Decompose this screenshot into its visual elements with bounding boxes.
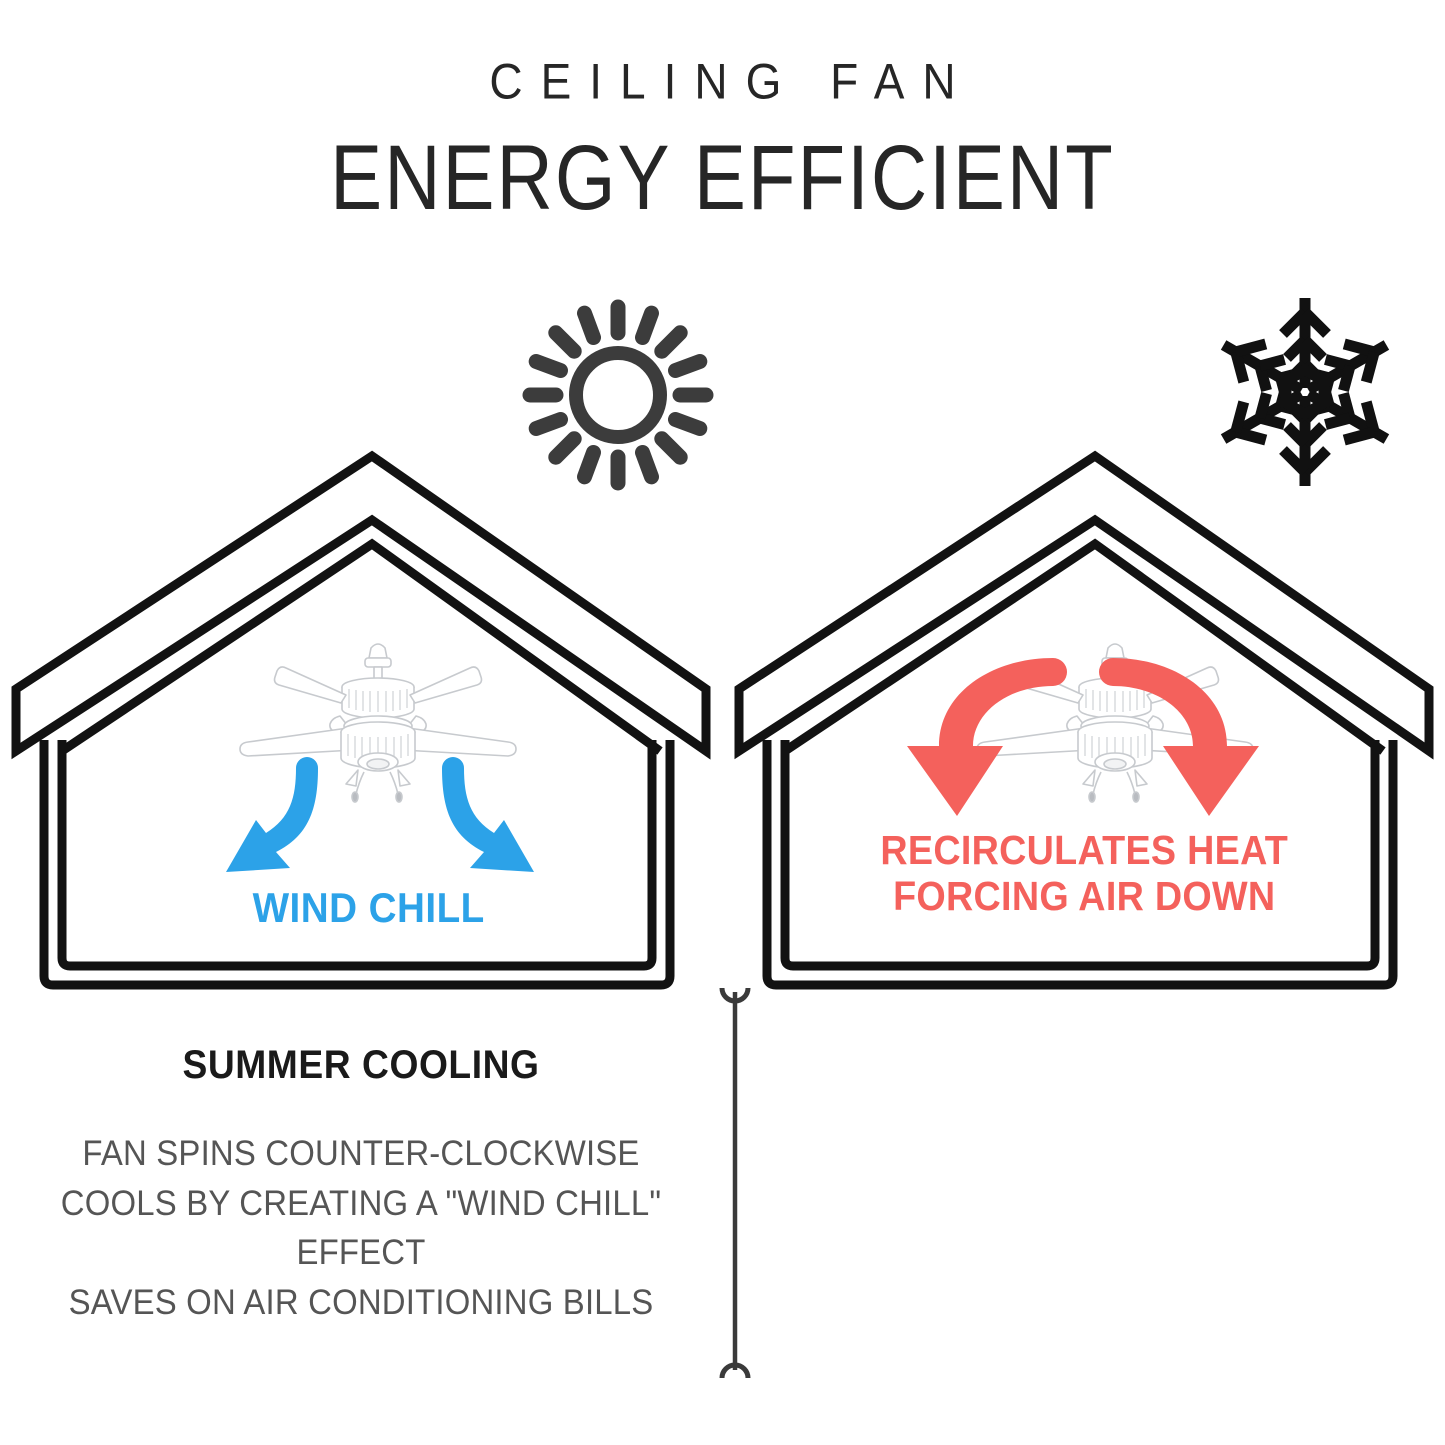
caption-body-summer: FAN SPINS COUNTER-CLOCKWISE COOLS BY CRE… — [22, 1129, 701, 1328]
divider-cup-bottom — [722, 1365, 748, 1378]
arrow-recirculate-right — [1099, 658, 1259, 816]
arrow-down-left — [226, 757, 318, 872]
caption-line: FAN SPINS COUNTER-CLOCKWISE — [22, 1129, 701, 1179]
inside-label-line: WIND CHILL — [37, 884, 701, 931]
vertical-divider — [700, 978, 770, 1388]
inside-label-summer: WIND CHILL — [29, 884, 701, 931]
panel-summer: WIND CHILL SUMMER COOLING FAN SPINS COUN… — [0, 0, 722, 1445]
caption-line: SAVES ON AIR CONDITIONING BILLS — [22, 1278, 701, 1328]
caption-summer: SUMMER COOLING FAN SPINS COUNTER-CLOCKWI… — [0, 1045, 722, 1328]
airflow-arrows-summer — [140, 740, 620, 1000]
caption-heading-summer: SUMMER COOLING — [25, 1045, 696, 1085]
infographic-canvas: CEILING FAN ENERGY EFFICIENT — [0, 0, 1445, 1445]
inside-label-line: RECIRCULATES HEAT — [752, 828, 1416, 874]
caption-line: COOLS BY CREATING A "WIND CHILL" — [22, 1179, 701, 1229]
arrow-recirculate-left — [907, 658, 1067, 816]
inside-label-line: FORCING AIR DOWN — [752, 874, 1416, 920]
arrow-down-right — [442, 757, 534, 872]
inside-label-winter: RECIRCULATES HEAT FORCING AIR DOWN — [752, 828, 1422, 920]
caption-line: EFFECT — [22, 1228, 701, 1278]
panel-winter: RECIRCULATES HEAT FORCING AIR DOWN WINTE… — [723, 0, 1445, 1445]
